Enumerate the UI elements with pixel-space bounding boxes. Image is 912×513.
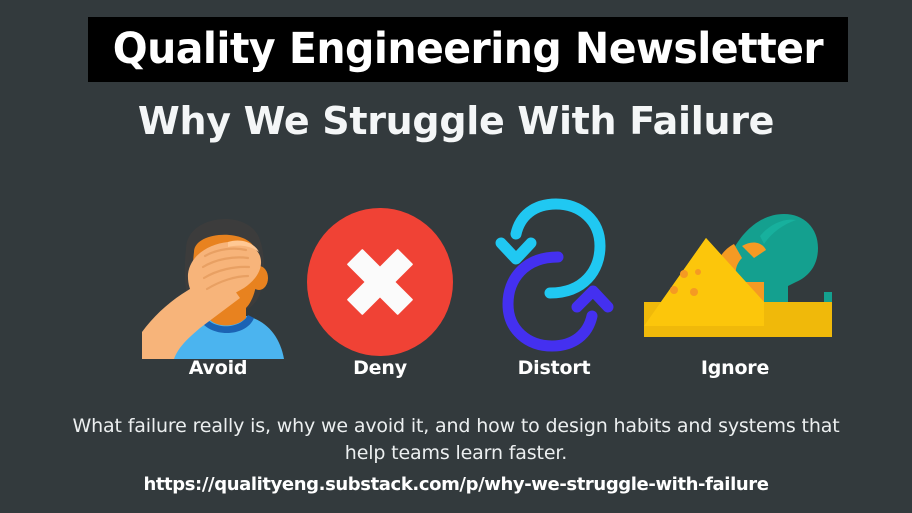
head-in-sand-icon [638, 194, 832, 359]
icon-cell-avoid [142, 194, 294, 359]
icon-label-ignore: Ignore [638, 357, 832, 381]
facepalm-emoji-icon [142, 194, 294, 359]
icon-cell-deny [304, 194, 456, 359]
newsletter-title: Quality Engineering Newsletter [113, 28, 823, 71]
article-url[interactable]: https://qualityeng.substack.com/p/why-we… [0, 474, 912, 495]
title-banner: Quality Engineering Newsletter [88, 17, 848, 82]
icon-label-distort: Distort [478, 357, 630, 381]
icon-cell-distort [478, 194, 630, 359]
twisted-arrows-icon [478, 194, 630, 359]
article-subtitle: Why We Struggle With Failure [0, 99, 912, 144]
icon-label-deny: Deny [304, 357, 456, 381]
icon-row [132, 194, 832, 359]
newsletter-promo-slide: Quality Engineering Newsletter Why We St… [0, 0, 912, 513]
description-text: What failure really is, why we avoid it,… [56, 413, 856, 467]
icon-labels: Avoid Deny Distort Ignore [132, 357, 832, 385]
icon-cell-ignore [638, 194, 832, 359]
red-cross-mark-icon [304, 194, 456, 359]
icon-label-avoid: Avoid [142, 357, 294, 381]
